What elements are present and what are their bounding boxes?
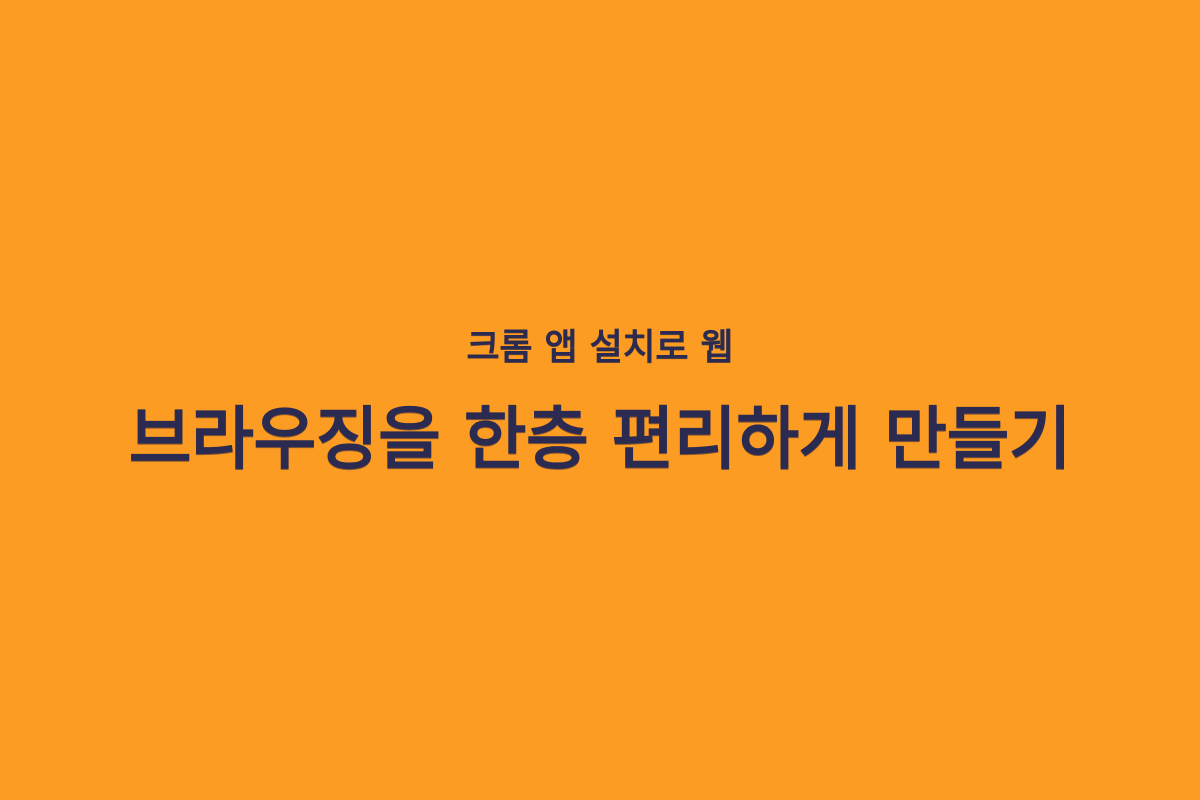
page-title-line-2: 브라우징을 한층 편리하게 만들기: [129, 395, 1071, 483]
page-title-line-1: 크롬 앱 설치로 웹: [467, 323, 734, 370]
page-title: 크롬 앱 설치로 웹 브라우징을 한층 편리하게 만들기: [0, 300, 1200, 500]
title-card: 크롬 앱 설치로 웹 브라우징을 한층 편리하게 만들기: [0, 0, 1200, 800]
